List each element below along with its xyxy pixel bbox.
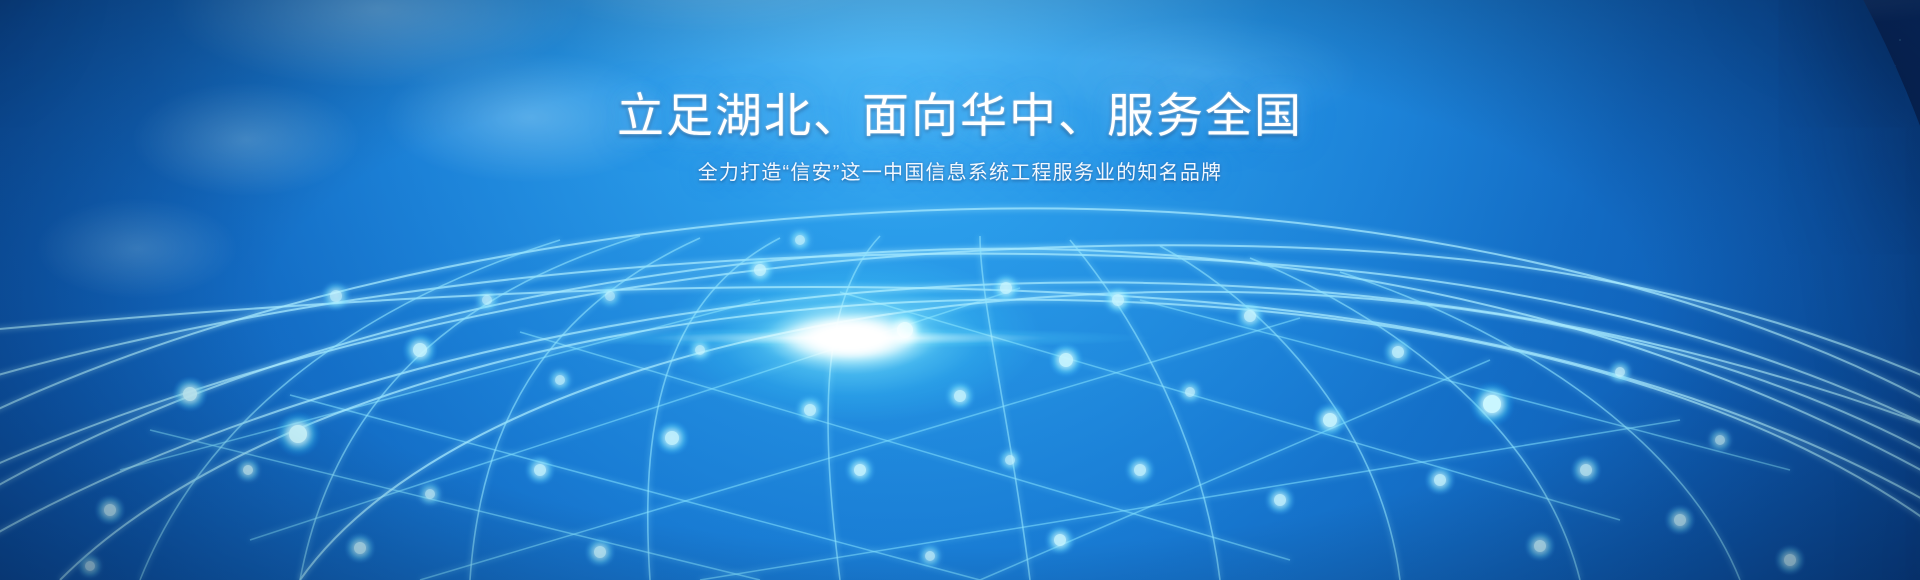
banner-copy: 立足湖北、面向华中、服务全国 全力打造“信安”这一中国信息系统工程服务业的知名品… xyxy=(0,92,1920,185)
banner-subheadline: 全力打造“信安”这一中国信息系统工程服务业的知名品牌 xyxy=(0,161,1920,185)
vignette-overlay xyxy=(0,0,1920,580)
banner-headline: 立足湖北、面向华中、服务全国 xyxy=(0,92,1920,139)
hero-banner: 立足湖北、面向华中、服务全国 全力打造“信安”这一中国信息系统工程服务业的知名品… xyxy=(0,0,1920,580)
